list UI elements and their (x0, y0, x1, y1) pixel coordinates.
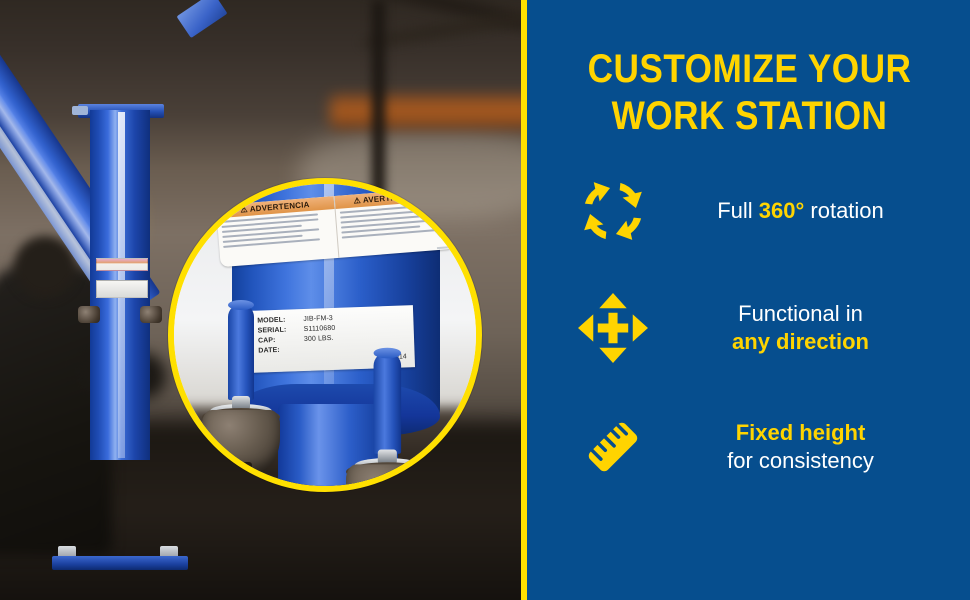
roller-stem (374, 352, 402, 454)
crane-base-plate (52, 556, 188, 570)
ruler-icon (557, 408, 669, 486)
four-way-arrow-icon (557, 290, 669, 366)
warning-column-french: ⚠ AVERTISSEMENT (333, 187, 456, 258)
feature-rotation: Full 360° rotation (557, 174, 942, 248)
info-panel: CUSTOMIZE YOUR WORK STATION (527, 0, 970, 600)
feature-rotation-text: Full 360° rotation (669, 197, 942, 226)
warning-triangle-icon: ⚠ (240, 205, 248, 215)
spec-key: DATE: (258, 345, 304, 357)
roller-stem (228, 304, 254, 400)
headline-line-1: CUSTOMIZE YOUR (588, 47, 912, 91)
roller-nut (232, 462, 252, 474)
feature-rotation-highlight: 360° (759, 198, 805, 223)
detail-zoom-circle: ⚠ ADVERTENCIA ⚠ AVERTISSEMENT (168, 178, 482, 492)
warning-triangle-icon: ⚠ (353, 196, 361, 206)
roller-stem-cap (228, 300, 254, 310)
mast-bolt (78, 306, 100, 323)
feature-direction-text: Functional in any direction (669, 300, 942, 357)
feature-rotation-suffix: rotation (804, 198, 884, 223)
feature-height-line-2: for consistency (669, 447, 932, 476)
rotation-arrows-icon (557, 174, 669, 248)
warning-column-spanish: ⚠ ADVERTENCIA (216, 196, 338, 267)
product-banner: ⚠ ADVERTENCIA ⚠ AVERTISSEMENT (0, 0, 970, 600)
feature-direction: Functional in any direction (557, 290, 942, 366)
mast-spec-plate (96, 280, 148, 298)
feature-direction-line-2: any direction (669, 328, 932, 357)
feature-list: Full 360° rotation (557, 174, 942, 486)
feature-direction-line-1: Functional in (669, 300, 932, 329)
boom-end-cap (176, 0, 227, 38)
roller-stem-cap (374, 348, 402, 359)
feature-rotation-prefix: Full (717, 198, 759, 223)
product-photo: ⚠ ADVERTENCIA ⚠ AVERTISSEMENT (0, 0, 521, 600)
feature-height: Fixed height for consistency (557, 408, 942, 486)
feature-height-text: Fixed height for consistency (669, 419, 942, 476)
headline: CUSTOMIZE YOUR WORK STATION (580, 46, 919, 140)
headline-line-2: WORK STATION (580, 93, 919, 140)
mast-bolt (140, 306, 162, 323)
feature-height-line-1: Fixed height (669, 419, 932, 448)
mast-warning-label (96, 258, 148, 271)
mast-cap-tab (72, 106, 88, 115)
